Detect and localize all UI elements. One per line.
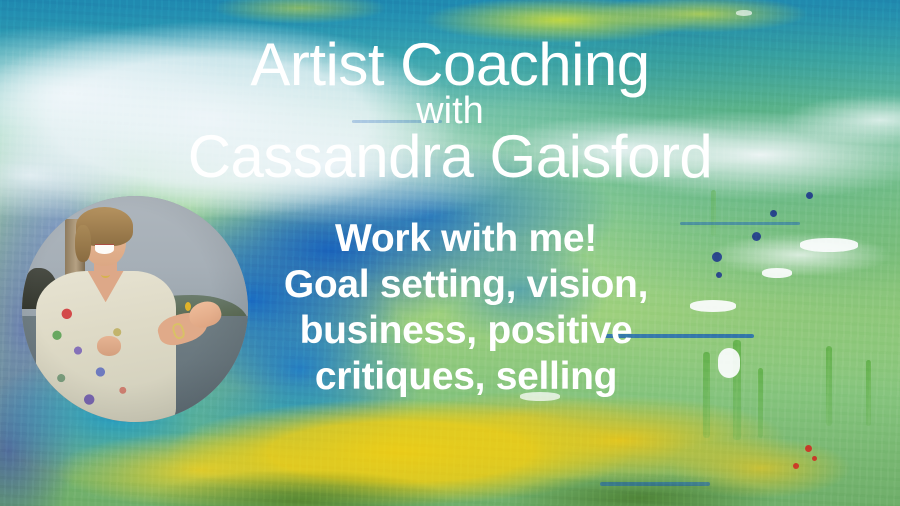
title-line-2: Cassandra Gaisford xyxy=(0,126,900,188)
body-line: critiques, selling xyxy=(246,354,686,400)
page-title: Artist Coaching with Cassandra Gaisford xyxy=(0,34,900,188)
portrait-vignette xyxy=(22,196,248,422)
body-line: Goal setting, vision, xyxy=(246,262,686,308)
body-line: Work with me! xyxy=(246,216,686,262)
body-copy: Work with me! Goal setting, vision, busi… xyxy=(246,216,686,400)
body-line: business, positive xyxy=(246,308,686,354)
promo-slide: Artist Coaching with Cassandra Gaisford … xyxy=(0,0,900,506)
title-line-1: Artist Coaching xyxy=(0,34,900,96)
avatar xyxy=(22,196,248,422)
